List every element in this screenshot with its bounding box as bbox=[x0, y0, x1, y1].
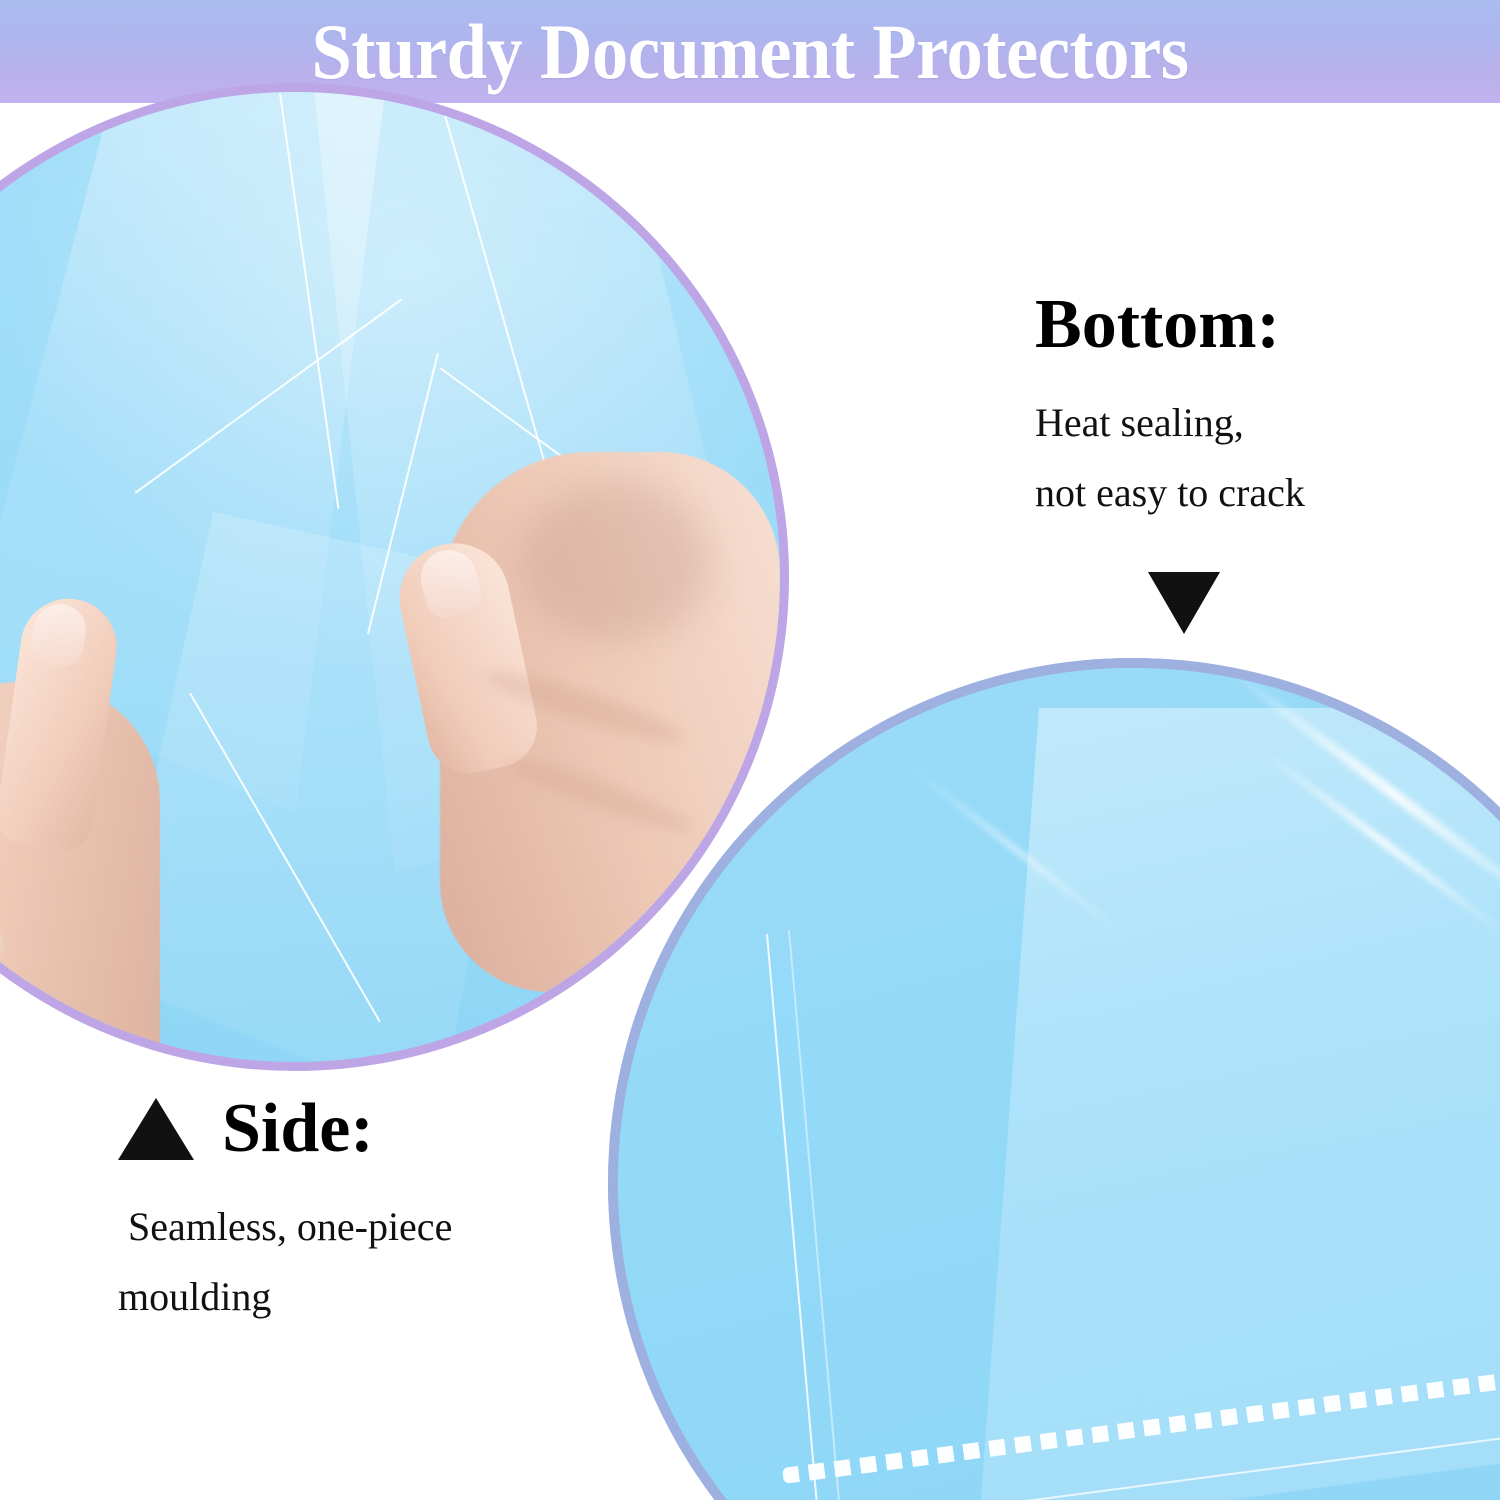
right-hand-shadow bbox=[520, 482, 710, 642]
callout-side: Side: Seamless, one-piece moulding bbox=[118, 1092, 452, 1332]
callout-side-line-1: Seamless, one-piece bbox=[118, 1192, 452, 1262]
bottom-photo-circle bbox=[618, 668, 1500, 1500]
callout-bottom-body: Heat sealing, not easy to crack bbox=[1035, 388, 1305, 528]
left-hand bbox=[0, 592, 190, 1062]
clear-pocket-sheet bbox=[736, 708, 1500, 1500]
header-banner: Sturdy Document Protectors bbox=[0, 0, 1500, 103]
callout-bottom-line-2: not easy to crack bbox=[1035, 458, 1305, 528]
callout-bottom-line-1: Heat sealing, bbox=[1035, 388, 1305, 458]
callout-side-line-2: moulding bbox=[118, 1262, 452, 1332]
callout-side-heading-row: Side: bbox=[118, 1092, 452, 1166]
bottom-photo-backdrop bbox=[618, 668, 1500, 1500]
callout-side-heading: Side: bbox=[222, 1092, 374, 1166]
callout-bottom-heading: Bottom: bbox=[1035, 288, 1305, 362]
callout-bottom: Bottom: Heat sealing, not easy to crack bbox=[1035, 288, 1305, 528]
page-title: Sturdy Document Protectors bbox=[53, 0, 1448, 103]
product-infographic: Sturdy Document Protectors bbox=[0, 0, 1500, 1500]
pocket-left-edge-line-secondary bbox=[788, 930, 848, 1500]
callout-side-body: Seamless, one-piece moulding bbox=[118, 1192, 452, 1332]
triangle-up-icon bbox=[118, 1098, 194, 1160]
triangle-down-icon bbox=[1148, 572, 1220, 634]
